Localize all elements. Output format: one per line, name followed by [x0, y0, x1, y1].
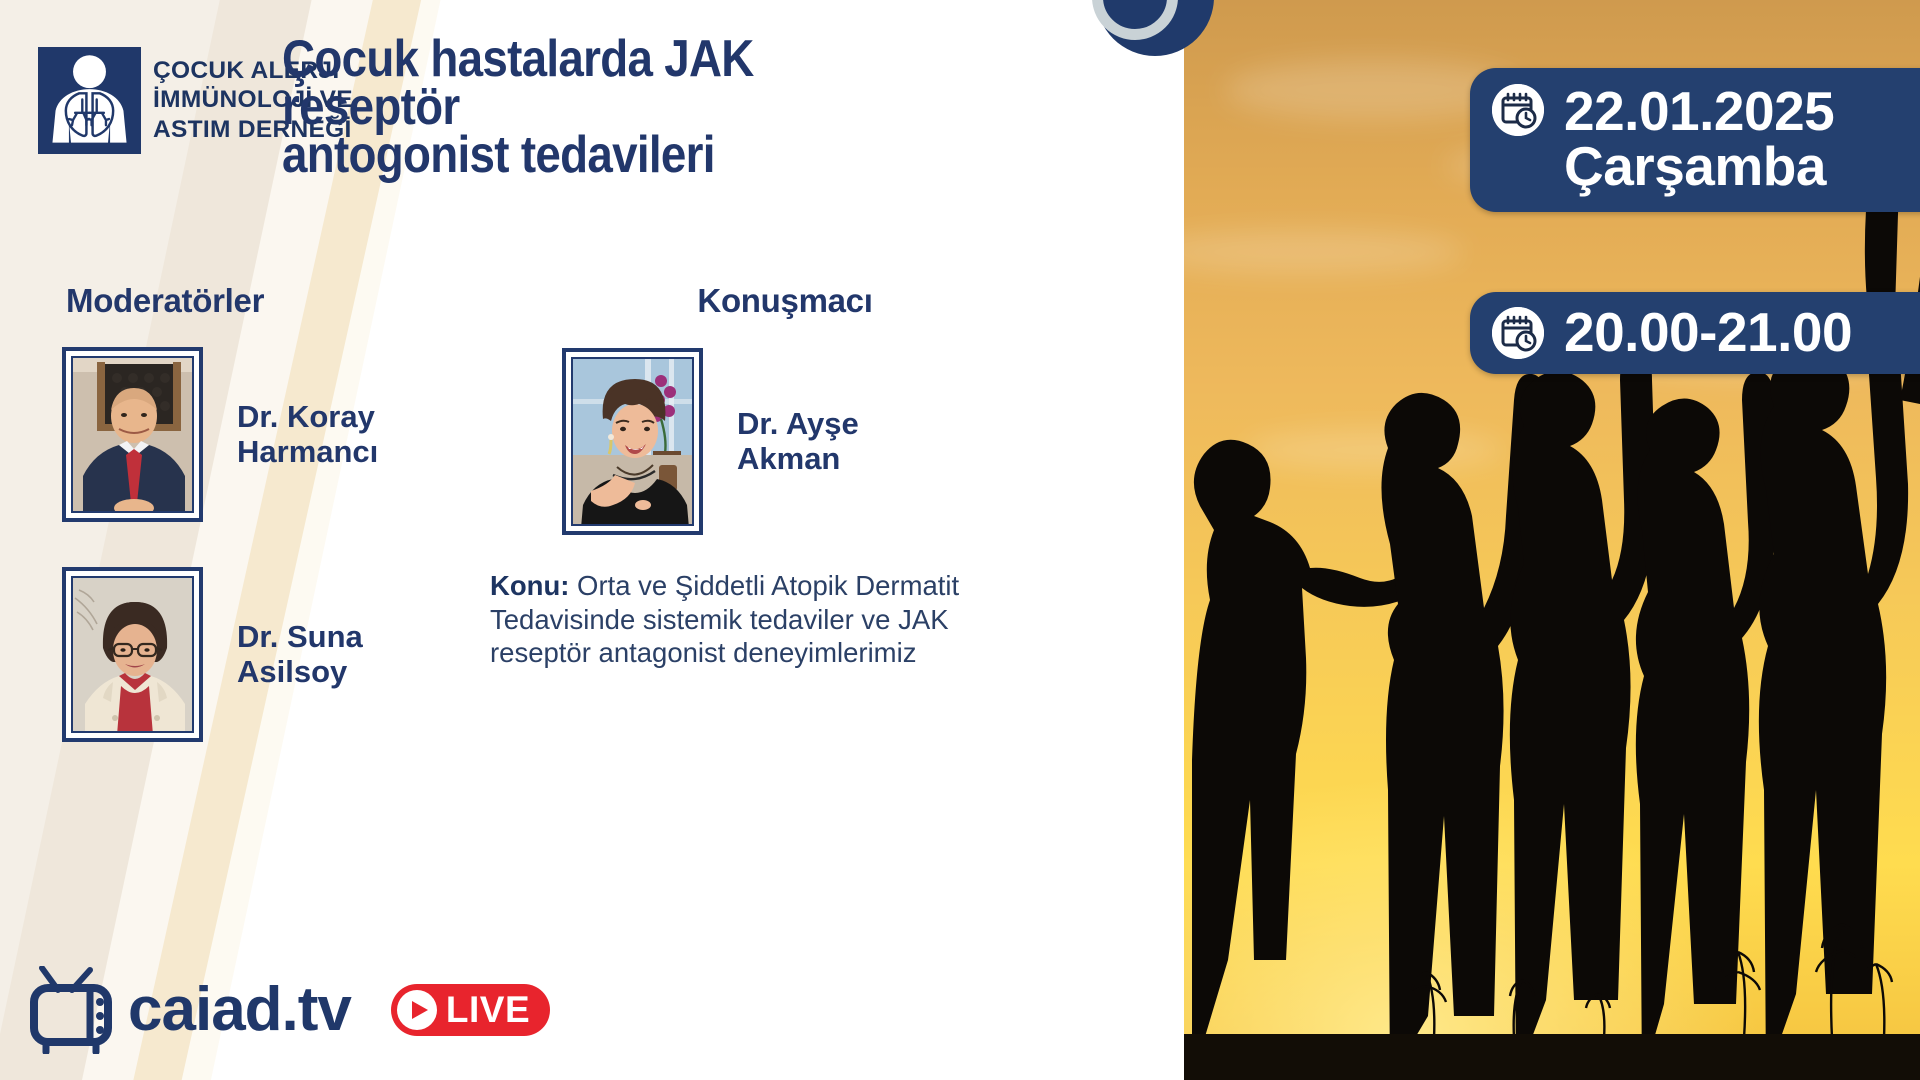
calendar-clock-icon [1492, 307, 1544, 359]
moderator-photo-frame [62, 567, 203, 742]
moderator-photo-frame [62, 347, 203, 522]
speaker-name: Dr. Ayşe Akman [737, 407, 859, 476]
speaker-photo-frame [562, 348, 703, 535]
moderator-item: Dr. Koray Harmancı [62, 347, 522, 522]
calendar-clock-icon [1492, 84, 1544, 136]
moderator-name: Dr. Suna Asilsoy [237, 620, 363, 689]
topic-text: Konu: Orta ve Şiddetli Atopik Dermatit T… [490, 569, 982, 670]
date-badge: 22.01.2025 Çarşamba [1470, 68, 1920, 212]
speaker-heading: Konuşmacı [486, 282, 986, 320]
content-panel: ÇOCUK ALERJİ İMMÜNOLOJİ VE ASTIM DERNEĞİ… [0, 0, 1184, 1080]
portrait-suna-asilsoy [73, 578, 192, 731]
moderator-item: Dr. Suna Asilsoy [62, 567, 522, 742]
date-value: 22.01.2025 Çarşamba [1564, 84, 1834, 194]
time-value: 20.00-21.00 [1564, 305, 1852, 360]
topic-label: Konu: [490, 570, 569, 601]
moderators-section: Moderatörler [62, 282, 522, 742]
play-icon [397, 990, 437, 1030]
retro-tv-icon [28, 966, 124, 1054]
live-badge[interactable]: LIVE [391, 984, 550, 1036]
live-label: LIVE [446, 989, 530, 1031]
portrait-koray-harmanci [73, 358, 192, 511]
brand-bar: caiad.tv LIVE [28, 966, 550, 1054]
moderator-name: Dr. Koray Harmancı [237, 400, 378, 469]
brand-name[interactable]: caiad.tv [128, 979, 351, 1041]
person-lungs-icon [38, 47, 141, 154]
page-title: Çocuk hastalarda JAK reseptör antogonist… [282, 36, 898, 179]
poster-canvas: ÇOCUK ALERJİ İMMÜNOLOJİ VE ASTIM DERNEĞİ… [0, 0, 1920, 1080]
speaker-section: Konuşmacı [486, 282, 986, 670]
moderators-heading: Moderatörler [62, 282, 522, 320]
portrait-ayse-akman [573, 359, 692, 524]
time-badge: 20.00-21.00 [1470, 292, 1920, 374]
ground-strip [1184, 1034, 1920, 1080]
